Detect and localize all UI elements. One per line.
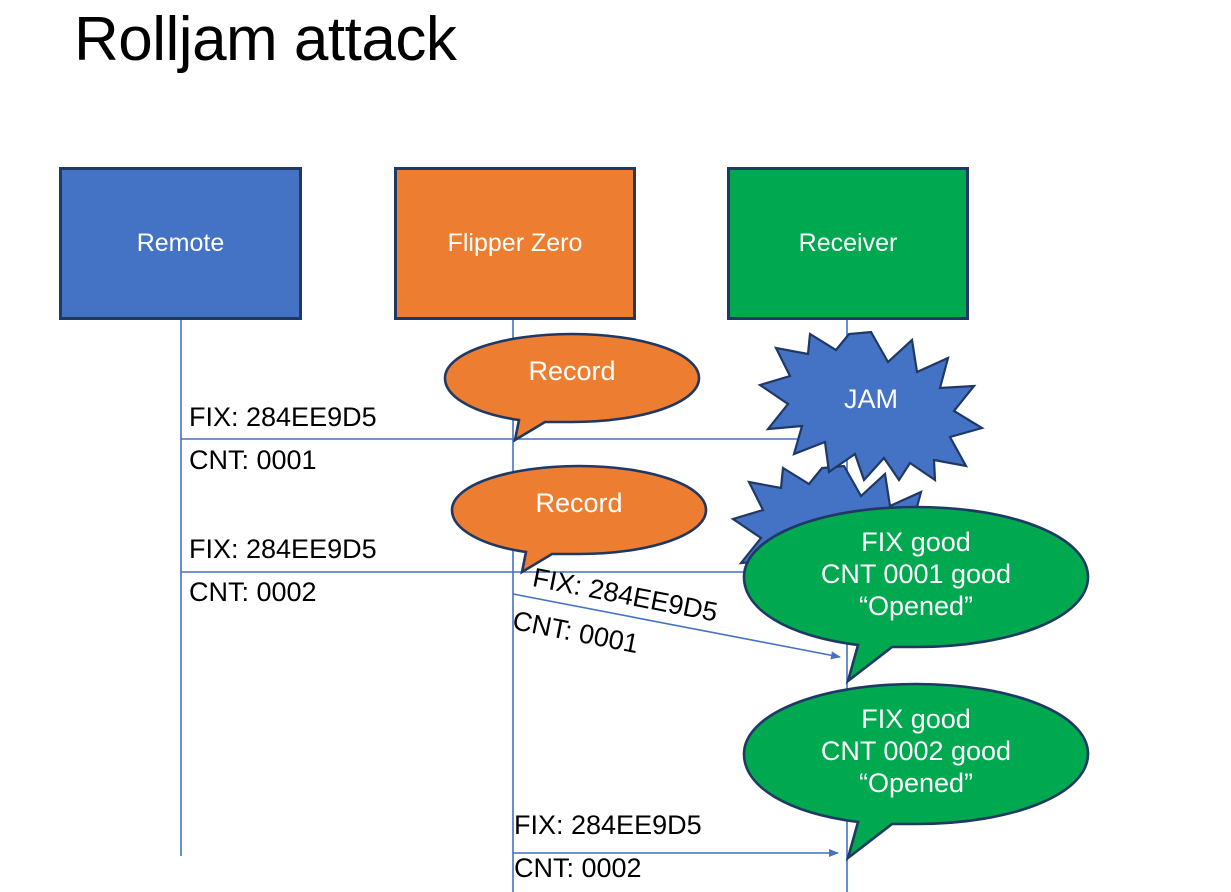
- message-1-cnt-label: CNT: 0001: [189, 447, 317, 474]
- starburst-shape: [760, 332, 982, 480]
- actor-label-receiver: Receiver: [799, 230, 898, 258]
- actor-box-flipper[interactable]: Flipper Zero: [394, 167, 636, 320]
- actor-label-remote: Remote: [137, 230, 225, 258]
- callout-record-1: Record: [443, 332, 701, 442]
- slide-canvas: Rolljam attack Remote Flipper Zero Recei…: [0, 0, 1231, 892]
- oval-callout-shape: [452, 466, 706, 572]
- callout-jam-1: JAM: [760, 332, 982, 480]
- message-4-cnt-label: CNT: 0002: [514, 855, 642, 882]
- oval-callout-shape: [445, 334, 699, 440]
- callout-result-1: FIX good CNT 0001 good “Opened”: [742, 505, 1090, 683]
- actor-label-flipper: Flipper Zero: [448, 230, 583, 258]
- message-4-fix-label: FIX: 284EE9D5: [514, 812, 702, 839]
- message-2-cnt-label: CNT: 0002: [189, 579, 317, 606]
- callout-result-2: FIX good CNT 0002 good “Opened”: [742, 682, 1090, 860]
- message-2-fix-label: FIX: 284EE9D5: [189, 536, 377, 563]
- message-1-fix-label: FIX: 284EE9D5: [189, 404, 377, 431]
- actor-box-receiver[interactable]: Receiver: [727, 167, 969, 320]
- callout-record-2: Record: [450, 464, 708, 574]
- oval-callout-shape: [744, 684, 1088, 858]
- actor-box-remote[interactable]: Remote: [59, 167, 302, 320]
- oval-callout-shape: [744, 507, 1088, 681]
